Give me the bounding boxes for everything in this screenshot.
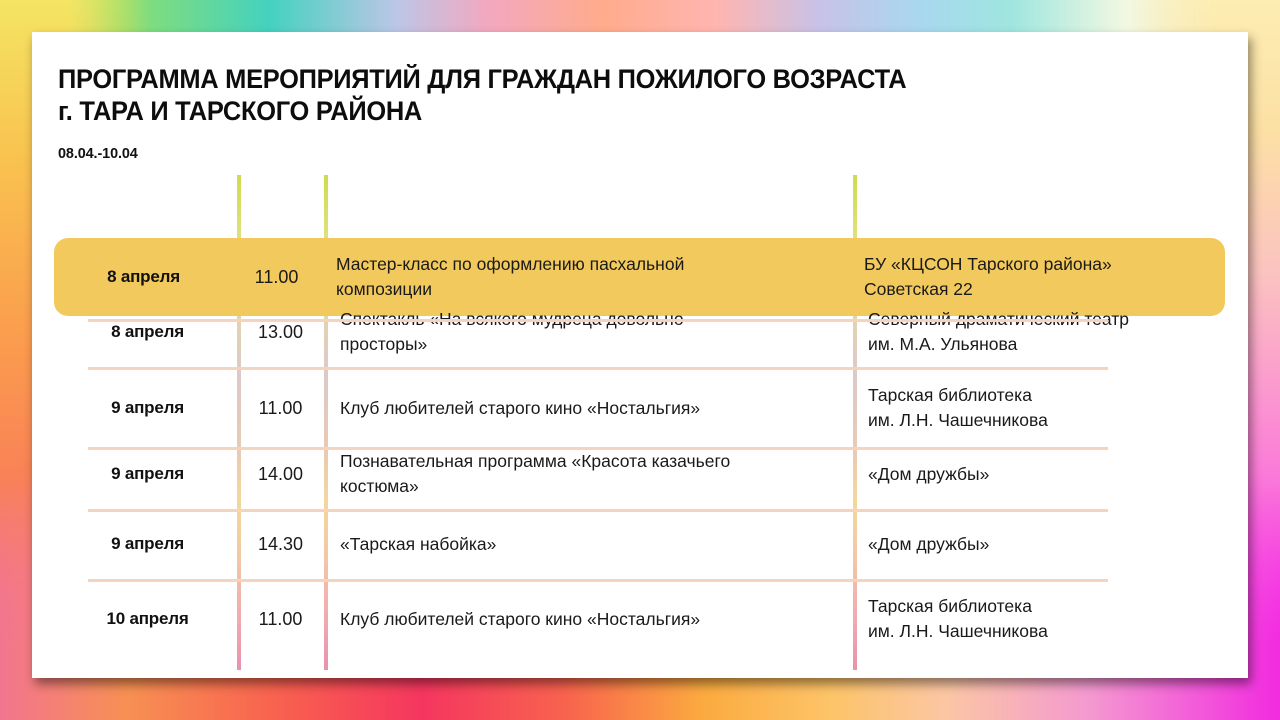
content-card: ПРОГРАММА МЕРОПРИЯТИЙ ДЛЯ ГРАЖДАН ПОЖИЛО… bbox=[32, 32, 1248, 678]
row-divider bbox=[88, 447, 1108, 450]
cell-place: «Дом дружбы» bbox=[853, 532, 1221, 557]
cell-event: «Тарская набойка» bbox=[324, 532, 853, 557]
cell-event: Мастер-класс по оформлению пасхальной ко… bbox=[320, 252, 849, 302]
row-divider bbox=[88, 367, 1108, 370]
page-title: ПРОГРАММА МЕРОПРИЯТИЙ ДЛЯ ГРАЖДАН ПОЖИЛО… bbox=[58, 63, 1018, 128]
table-row[interactable]: 9 апреля14.30«Тарская набойка» «Дом друж… bbox=[58, 513, 1221, 575]
date-range-subtitle: 08.04.-10.04 bbox=[58, 145, 1018, 162]
cell-place: БУ «КЦСОН Тарского района» Советская 22 bbox=[849, 252, 1225, 302]
row-divider bbox=[88, 509, 1108, 512]
cell-event: Познавательная программа «Красота казачь… bbox=[324, 449, 853, 499]
slide-root: ПРОГРАММА МЕРОПРИЯТИЙ ДЛЯ ГРАЖДАН ПОЖИЛО… bbox=[0, 0, 1280, 720]
table-row[interactable]: 9 апреля11.00 Клуб любителей старого кин… bbox=[58, 373, 1221, 443]
cell-date: 9 апреля bbox=[58, 464, 237, 484]
cell-event: Спектакль «На всякого мудреца довольно п… bbox=[324, 307, 853, 357]
cell-time: 14.00 bbox=[237, 464, 324, 485]
cell-place: Тарская библиотека им. Л.Н. Чашечникова bbox=[853, 594, 1221, 644]
cell-place: Северный драматический театр им. М.А. Ул… bbox=[853, 307, 1221, 357]
cell-date: 8 апреля bbox=[58, 322, 237, 342]
cell-event: Клуб любителей старого кино «Ностальгия» bbox=[324, 396, 853, 421]
cell-place: Тарская библиотека им. Л.Н. Чашечникова bbox=[853, 383, 1221, 433]
header-block: ПРОГРАММА МЕРОПРИЯТИЙ ДЛЯ ГРАЖДАН ПОЖИЛО… bbox=[58, 63, 1058, 162]
cell-time: 14.30 bbox=[237, 534, 324, 555]
cell-time: 13.00 bbox=[237, 322, 324, 343]
cell-time: 11.00 bbox=[237, 609, 324, 630]
row-divider bbox=[88, 319, 1108, 322]
schedule-rows: 8 апреля11.00Мастер-класс по оформлению … bbox=[58, 175, 1221, 670]
table-row[interactable]: 8 апреля13.00Спектакль «На всякого мудре… bbox=[58, 301, 1221, 363]
cell-date: 9 апреля bbox=[58, 534, 237, 554]
row-divider bbox=[88, 579, 1108, 582]
cell-date: 9 апреля bbox=[58, 398, 237, 418]
cell-place: «Дом дружбы» bbox=[853, 462, 1221, 487]
cell-date: 10 апреля bbox=[58, 609, 237, 629]
cell-date: 8 апреля bbox=[54, 267, 233, 287]
table-row[interactable]: 9 апреля14.00 Познавательная программа «… bbox=[58, 443, 1221, 505]
table-row[interactable]: 10 апреля11.00 Клуб любителей старого ки… bbox=[58, 583, 1221, 655]
schedule-table: 8 апреля11.00Мастер-класс по оформлению … bbox=[58, 175, 1221, 670]
cell-time: 11.00 bbox=[237, 398, 324, 419]
cell-time: 11.00 bbox=[233, 267, 320, 288]
cell-event: Клуб любителей старого кино «Ностальгия» bbox=[324, 607, 853, 632]
